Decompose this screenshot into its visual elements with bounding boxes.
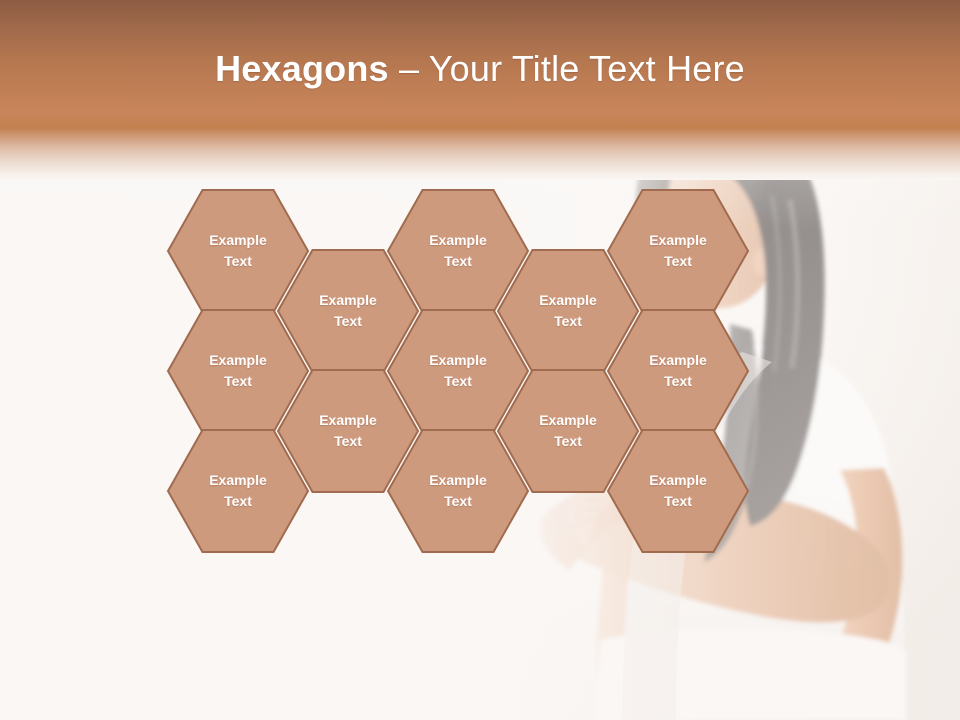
slide-canvas: Hexagons – Your Title Text Here ExampleT… <box>0 0 960 720</box>
page-title-rest: – Your Title Text Here <box>389 48 745 89</box>
hexagon-hex-c5-r2[interactable]: ExampleText <box>607 309 749 433</box>
hexagon-shape <box>607 429 749 553</box>
header-gradient-fade <box>0 128 960 180</box>
hexagon-hex-c5-r1[interactable]: ExampleText <box>607 189 749 313</box>
hexagon-shape <box>607 309 749 433</box>
hexagon-shape <box>607 189 749 313</box>
page-title: Hexagons – Your Title Text Here <box>0 47 960 91</box>
hexagon-hex-c5-r3[interactable]: ExampleText <box>607 429 749 553</box>
page-title-strong: Hexagons <box>215 48 389 89</box>
